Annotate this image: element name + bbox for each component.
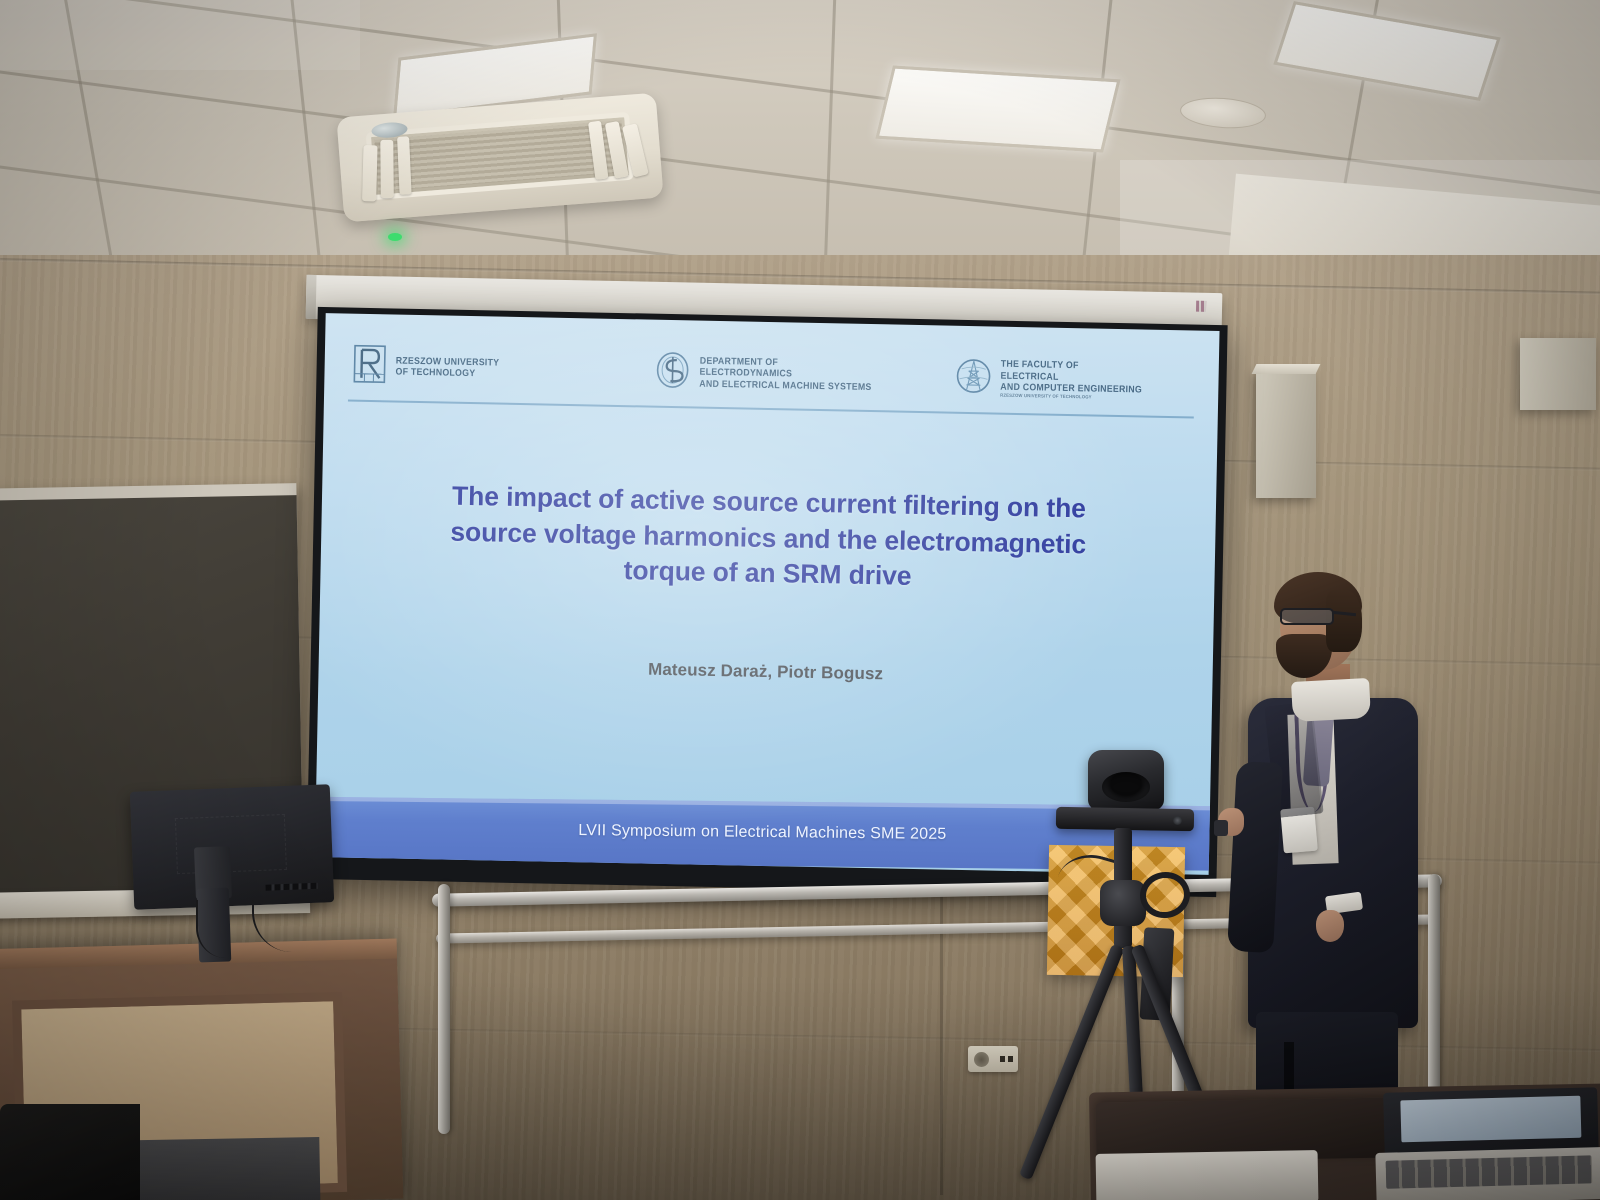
slide-authors: Mateusz Daraż, Piotr Bogusz bbox=[408, 655, 1123, 689]
presentation-clicker[interactable] bbox=[1214, 820, 1228, 836]
laptop-right-keyboard[interactable] bbox=[1375, 1147, 1600, 1200]
podium-monitor bbox=[130, 784, 334, 910]
wall-speaker-right bbox=[1520, 338, 1596, 410]
logo3-text: THE FACULTY OF ELECTRICAL AND COMPUTER E… bbox=[1000, 359, 1155, 401]
ceiling-led-panel-2 bbox=[875, 66, 1120, 153]
tripod-head[interactable] bbox=[1100, 880, 1146, 926]
ptz-video-camera[interactable] bbox=[1088, 750, 1164, 810]
wall-power-socket[interactable] bbox=[968, 1046, 1018, 1072]
logo-faculty-of-electrical-and-computer-engineering: THE FACULTY OF ELECTRICAL AND COMPUTER E… bbox=[955, 356, 1190, 404]
camera-lens-icon bbox=[1102, 772, 1150, 802]
railing-post-left bbox=[438, 884, 450, 1134]
presenter-glasses-icon bbox=[1280, 608, 1334, 625]
railing-post-right bbox=[1428, 874, 1440, 1104]
rzeszow-pr-monogram-icon bbox=[352, 343, 387, 389]
screen-brand-logo-icon bbox=[1196, 301, 1206, 312]
socket-round-outlet bbox=[974, 1052, 989, 1067]
lecture-hall-scene: RZESZOW UNIVERSITY OF TECHNOLOGY bbox=[0, 0, 1600, 1200]
wall-speaker-left bbox=[1256, 370, 1316, 498]
presenter-hand-right bbox=[1316, 910, 1344, 942]
pylon-circle-icon bbox=[955, 356, 992, 400]
presenter bbox=[1218, 572, 1428, 1102]
logo-department-of-electrodynamics: DEPARTMENT OF ELECTRODYNAMICS AND ELECTR… bbox=[654, 350, 956, 399]
laptop-left-keyboard[interactable] bbox=[1096, 1150, 1319, 1200]
logo1-text: RZESZOW UNIVERSITY OF TECHNOLOGY bbox=[395, 355, 508, 380]
logo-rzeszow-university-of-technology: RZESZOW UNIVERSITY OF TECHNOLOGY bbox=[352, 343, 655, 394]
socket-data-outlet bbox=[1000, 1056, 1013, 1062]
slide-header: RZESZOW UNIVERSITY OF TECHNOLOGY bbox=[324, 331, 1219, 417]
presentation-slide: RZESZOW UNIVERSITY OF TECHNOLOGY bbox=[315, 313, 1220, 875]
presenter-shirt-collar bbox=[1291, 678, 1371, 722]
ac-status-led-indicator bbox=[388, 233, 402, 241]
slide-title: The impact of active source current filt… bbox=[410, 478, 1127, 599]
logo2-text: DEPARTMENT OF ELECTRODYNAMICS AND ELECTR… bbox=[699, 356, 887, 393]
electrodynamics-circle-icon bbox=[654, 350, 691, 394]
foreground-dark-object bbox=[0, 1104, 140, 1200]
